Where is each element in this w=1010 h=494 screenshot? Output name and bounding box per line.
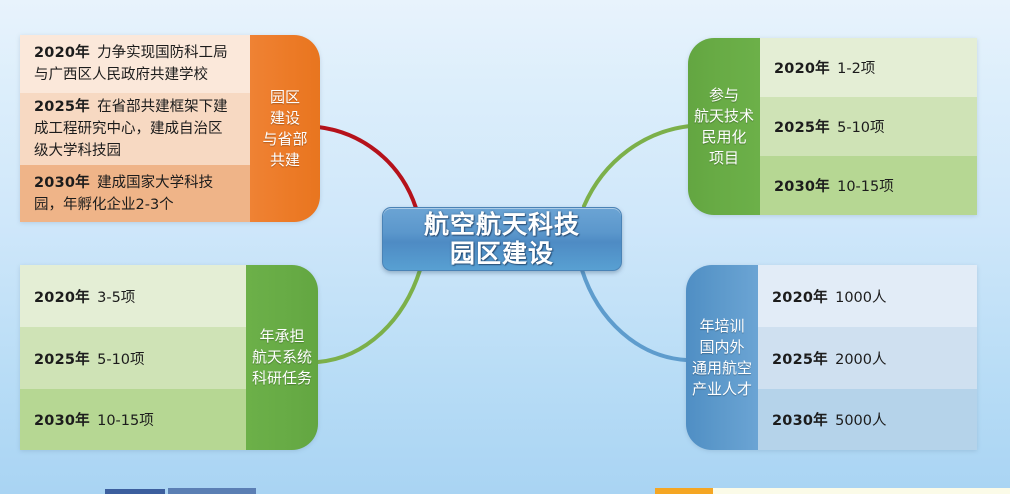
branch-bottom-right-label[interactable]: 年培训国内外通用航空产业人才 (686, 265, 758, 450)
branch-top-right-label[interactable]: 参与航天技术民用化项目 (688, 38, 760, 215)
branch-top-right[interactable]: 参与航天技术民用化项目 2020年 1-2项2025年 5-10项2030年 1… (688, 38, 977, 215)
row-text: 2030年 5000人 (772, 409, 887, 430)
branch-top-right-rows: 2020年 1-2项2025年 5-10项2030年 10-15项 (760, 38, 977, 215)
row-value: 5000人 (828, 413, 887, 429)
connector-top-left (318, 127, 416, 208)
table-row: 2030年 10-15项 (760, 156, 977, 215)
row-year: 2030年 (34, 413, 90, 429)
row-value: 5-10项 (90, 352, 145, 368)
row-text: 2025年 5-10项 (774, 116, 885, 137)
row-year: 2030年 (772, 413, 828, 429)
branch-label-line: 共建 (262, 150, 307, 171)
branch-label-line: 科研任务 (252, 368, 312, 389)
table-row: 2020年 力争实现国防科工局与广西区人民政府共建学校 (20, 35, 250, 93)
row-year: 2030年 (774, 179, 830, 195)
row-year: 2025年 (34, 352, 90, 368)
strip-dark-blue (105, 489, 165, 494)
branch-bottom-right[interactable]: 年培训国内外通用航空产业人才 2020年 1000人2025年 2000人203… (686, 265, 977, 450)
row-value: 1000人 (828, 290, 887, 306)
branch-label-text: 参与航天技术民用化项目 (694, 85, 754, 169)
branch-label-text: 年承担航天系统科研任务 (252, 326, 312, 389)
row-year: 2025年 (34, 99, 90, 115)
row-text: 2020年 力争实现国防科工局与广西区人民政府共建学校 (34, 42, 236, 86)
table-row: 2020年 1-2项 (760, 38, 977, 97)
branch-label-line: 与省部 (262, 129, 307, 150)
table-row: 2030年 10-15项 (20, 389, 246, 450)
row-value: 3-5项 (90, 290, 135, 306)
row-year: 2020年 (774, 61, 830, 77)
branch-label-line: 产业人才 (692, 379, 752, 400)
branch-top-left-label[interactable]: 园区建设与省部共建 (250, 35, 320, 222)
row-text: 2020年 1-2项 (774, 57, 875, 78)
branch-label-line: 参与 (694, 85, 754, 106)
strip-steel-blue (168, 488, 256, 494)
branch-label-line: 民用化 (694, 127, 754, 148)
row-text: 2030年 10-15项 (774, 175, 894, 196)
row-year: 2030年 (34, 175, 90, 191)
branch-label-text: 年培训国内外通用航空产业人才 (692, 316, 752, 400)
branch-label-text: 园区建设与省部共建 (262, 87, 307, 171)
branch-bottom-right-rows: 2020年 1000人2025年 2000人2030年 5000人 (758, 265, 977, 450)
row-value: 5-10项 (830, 120, 885, 136)
branch-top-left[interactable]: 2020年 力争实现国防科工局与广西区人民政府共建学校2025年 在省部共建框架… (20, 35, 320, 222)
table-row: 2025年 在省部共建框架下建成工程研究中心，建成自治区级大学科技园 (20, 93, 250, 165)
mindmap-canvas: 2020年 力争实现国防科工局与广西区人民政府共建学校2025年 在省部共建框架… (0, 0, 1010, 494)
center-node[interactable]: 航空航天科技 园区建设 (382, 207, 622, 271)
table-row: 2025年 2000人 (758, 327, 977, 389)
row-text: 2020年 3-5项 (34, 286, 135, 307)
branch-top-left-rows: 2020年 力争实现国防科工局与广西区人民政府共建学校2025年 在省部共建框架… (20, 35, 250, 222)
row-text: 2030年 建成国家大学科技园，年孵化企业2-3个 (34, 172, 236, 216)
branch-bottom-left-label[interactable]: 年承担航天系统科研任务 (246, 265, 318, 450)
row-text: 2030年 10-15项 (34, 409, 154, 430)
row-year: 2025年 (772, 352, 828, 368)
connector-bottom-left (318, 270, 420, 362)
center-node-title-line2: 园区建设 (424, 239, 580, 268)
branch-label-line: 年承担 (252, 326, 312, 347)
row-value: 1-2项 (830, 61, 875, 77)
connector-bottom-right (582, 270, 686, 360)
branch-label-line: 项目 (694, 148, 754, 169)
table-row: 2025年 5-10项 (760, 97, 977, 156)
row-year: 2020年 (34, 45, 90, 61)
connector-top-right (584, 126, 690, 206)
branch-label-line: 园区 (262, 87, 307, 108)
branch-bottom-left-rows: 2020年 3-5项2025年 5-10项2030年 10-15项 (20, 265, 246, 450)
row-text: 2025年 2000人 (772, 348, 887, 369)
strip-orange (655, 488, 713, 494)
row-text: 2025年 在省部共建框架下建成工程研究中心，建成自治区级大学科技园 (34, 96, 236, 162)
branch-label-line: 通用航空 (692, 358, 752, 379)
table-row: 2025年 5-10项 (20, 327, 246, 389)
branch-label-line: 航天系统 (252, 347, 312, 368)
row-text: 2025年 5-10项 (34, 348, 145, 369)
branch-label-line: 建设 (262, 108, 307, 129)
row-year: 2020年 (772, 290, 828, 306)
row-year: 2020年 (34, 290, 90, 306)
row-value: 10-15项 (90, 413, 154, 429)
table-row: 2020年 1000人 (758, 265, 977, 327)
branch-bottom-left[interactable]: 2020年 3-5项2025年 5-10项2030年 10-15项 年承担航天系… (20, 265, 318, 450)
branch-label-line: 年培训 (692, 316, 752, 337)
table-row: 2020年 3-5项 (20, 265, 246, 327)
strip-cream (713, 488, 1010, 494)
row-text: 2020年 1000人 (772, 286, 887, 307)
table-row: 2030年 建成国家大学科技园，年孵化企业2-3个 (20, 165, 250, 222)
row-year: 2025年 (774, 120, 830, 136)
row-value: 2000人 (828, 352, 887, 368)
row-value: 10-15项 (830, 179, 894, 195)
branch-label-line: 航天技术 (694, 106, 754, 127)
center-node-title: 航空航天科技 园区建设 (424, 210, 580, 268)
table-row: 2030年 5000人 (758, 389, 977, 450)
center-node-title-line1: 航空航天科技 (424, 210, 580, 239)
branch-label-line: 国内外 (692, 337, 752, 358)
